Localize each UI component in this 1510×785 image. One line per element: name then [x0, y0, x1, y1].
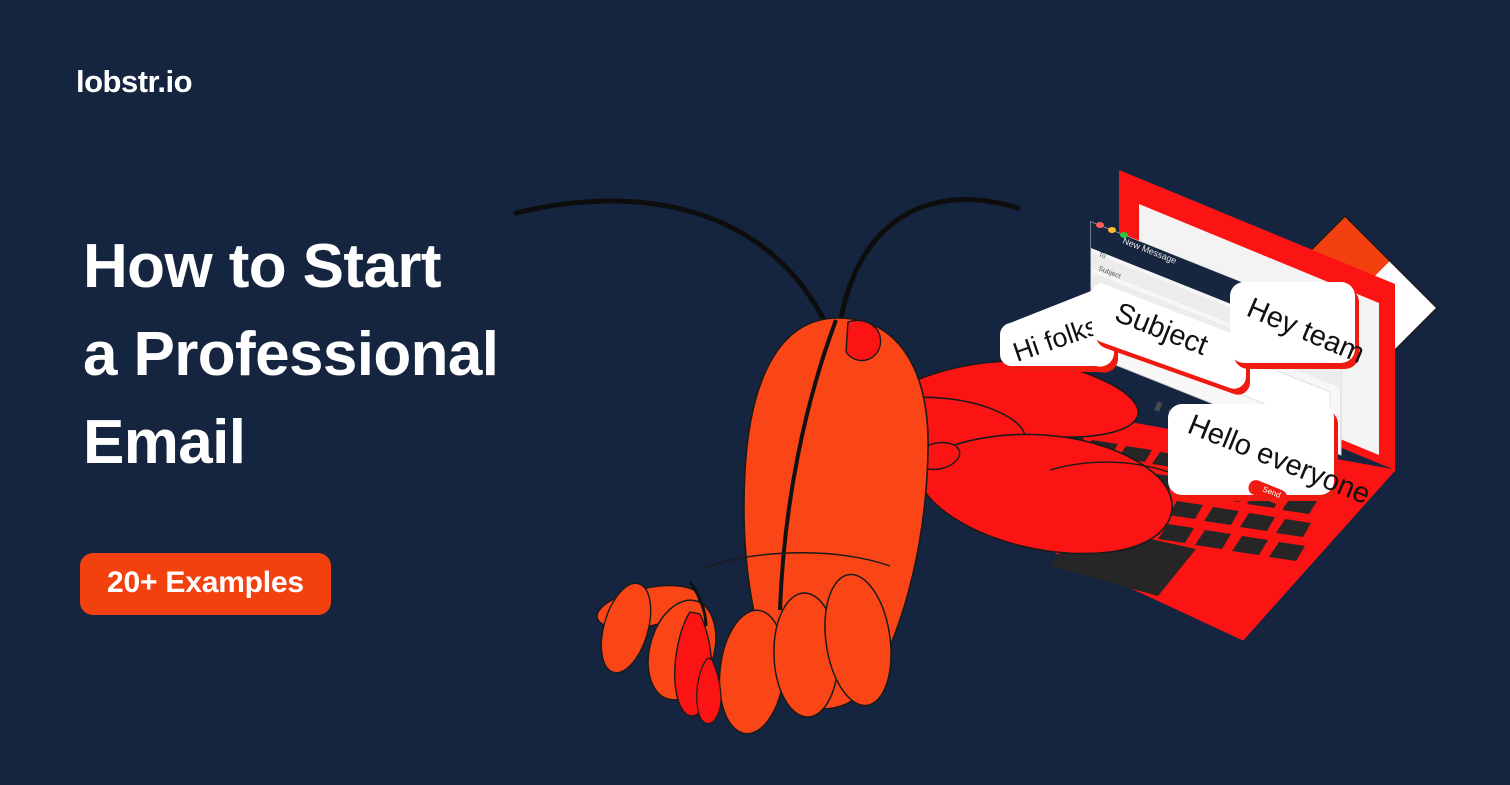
headline-line-1: How to Start	[83, 223, 723, 311]
examples-badge: 20+ Examples	[80, 553, 331, 615]
hero-banner: Hi folks Subject Hey team	[0, 0, 1510, 785]
headline-line-2: a Professional	[83, 311, 723, 399]
page-title: How to Start a Professional Email	[83, 223, 723, 487]
lobster-antenna-right	[839, 200, 1018, 332]
chip-hey-team: Hey team	[1230, 282, 1369, 370]
window-minimize-dot	[1108, 227, 1116, 233]
headline-line-3: Email	[83, 399, 723, 487]
window-close-dot	[1096, 222, 1104, 228]
brand-logo[interactable]: lobstr.io	[76, 66, 192, 97]
